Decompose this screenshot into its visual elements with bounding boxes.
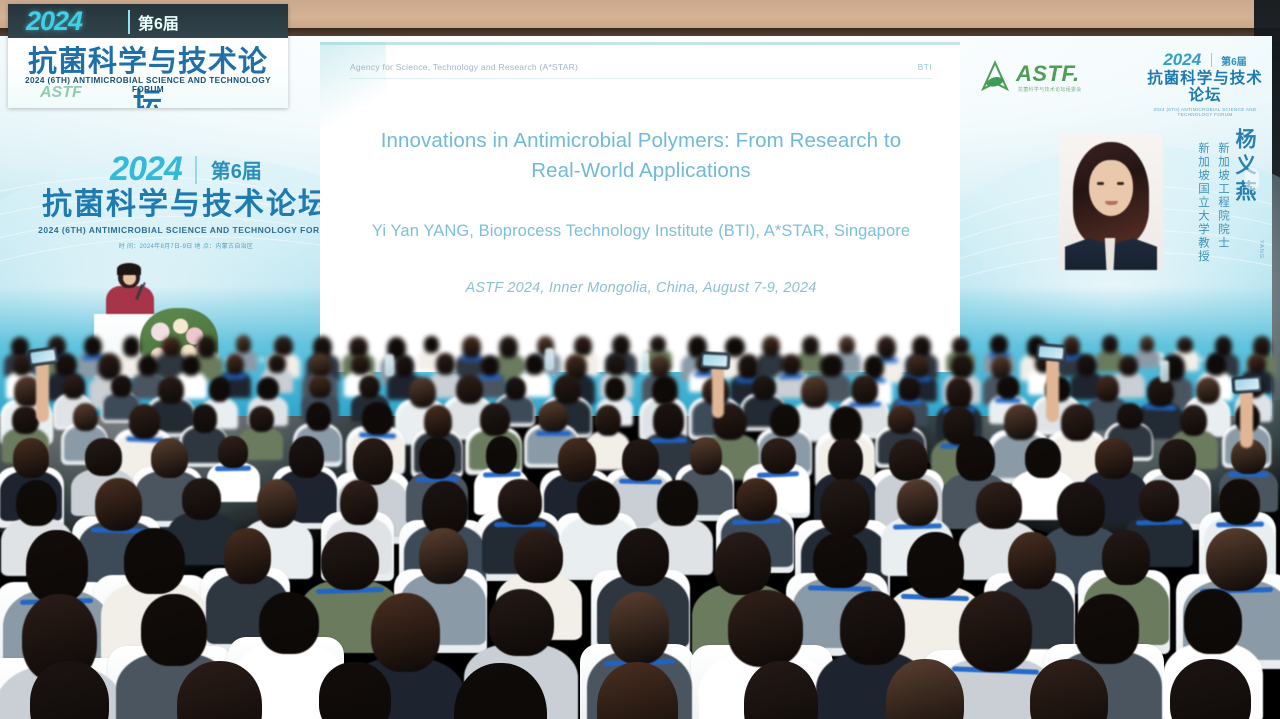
audience-head [306,402,331,431]
audience-head [371,593,441,672]
audience-head [1140,336,1155,352]
audience-head [744,661,819,719]
audience-head [505,377,526,399]
audience-head [595,405,621,436]
forum-signboard: 2024 第6届 抗菌科学与技术论坛 2024 (6TH) ANTIMICROB… [8,4,288,108]
audience-head [558,438,595,482]
audience-head [85,438,122,476]
audience-head [1025,438,1061,478]
audience-head [1102,335,1118,353]
audience-head [1184,589,1242,654]
audience-head [752,375,776,400]
audience-head [268,354,286,373]
audience-head [422,481,469,535]
audience-head [424,336,439,352]
audience-head [209,377,230,402]
audience-head [257,377,279,401]
slide-top-rule [320,42,960,45]
slide-header: Agency for Science, Technology and Resea… [350,60,932,74]
audience-head [486,436,518,474]
audience-head [1180,405,1207,436]
audience-head [1219,479,1259,525]
speaker-name-block: 杨义燕 YANG 新加坡工程院院士 新加坡国立大学教授 [1182,128,1268,278]
audience-member [162,337,181,378]
audience-member [577,480,620,574]
audience-member [597,662,679,719]
signboard-astf-logo: ASTF [40,84,82,102]
audience-member [525,354,544,398]
smartphone-camera [700,351,731,370]
audience-head [952,337,968,354]
audience-head [26,530,87,603]
audience-member [218,436,248,502]
audience-head [959,591,1032,672]
audience-member [959,591,1032,719]
backdrop-forum-banner: 2024 第6届 抗菌科学与技术论坛 2024 (6TH) ANTIMICROB… [36,150,336,266]
audience-head [359,375,380,398]
audience-head [714,532,772,595]
audience-head [889,439,928,481]
audience-member [1102,335,1118,372]
audience-head [1102,530,1151,586]
slide-header-organisation: Agency for Science, Technology and Resea… [350,62,578,72]
audience-head [997,376,1019,399]
audience-head [888,406,915,434]
audience-head [828,438,864,481]
right-logo-year: 2024 [1163,50,1201,70]
right-logo-title-cn: 抗菌科学与技术论坛 [1140,70,1270,104]
water-bottle [385,354,394,376]
audience-member [802,336,819,375]
audience-head [839,336,855,354]
audience-head [728,590,803,667]
audience-head [340,480,378,526]
portrait-eye-left [1097,182,1104,185]
raised-arm [1240,388,1253,448]
banner-session: 第6届 [211,155,262,184]
astf-wordmark: ASTF. [1016,61,1080,87]
audience-member [454,663,547,719]
audience-head [95,478,142,531]
raised-arm [36,360,49,422]
speaker-name-cn: 杨义燕 [1230,128,1260,206]
audience-head [1159,439,1196,480]
audience-head [158,376,184,404]
audience-head [622,439,658,482]
audience-head [886,659,964,719]
audience-head [73,403,98,431]
audience-head [309,376,330,398]
banner-title-en: 2024 (6TH) ANTIMICROBIAL SCIENCE AND TEC… [36,225,336,235]
audience-member [1119,355,1138,399]
audience-head [395,355,414,376]
astf-logo: ASTF. 抗菌科学与技术论坛组委会 [978,56,1088,102]
audience-member [259,592,320,719]
audience-head [1206,528,1267,592]
slide-event-line: ASTF 2024, Inner Mongolia, China, August… [360,280,922,296]
audience-head [182,355,200,376]
audience-head [141,594,207,666]
audience-member [436,353,454,398]
audience-member [1025,438,1061,521]
audience-head [609,592,669,663]
right-logo-session: 第6届 [1221,53,1247,68]
signboard-year: 2024 [26,6,82,37]
audience-head [123,336,141,356]
audience-head [1147,377,1174,407]
audience-head [951,354,973,378]
smartphone-camera [1231,375,1262,394]
audience-head [650,336,666,352]
audience-crowd [0,330,1280,719]
audience-member [192,404,218,464]
audience-head [1077,354,1096,376]
right-forum-logo: 2024 第6届 抗菌科学与技术论坛 2024 (6TH) ANTIMICROB… [1140,50,1270,117]
audience-head [436,353,454,375]
audience-head [577,480,620,525]
audience-head [1004,404,1037,440]
audience-head [259,592,320,655]
audience-head [13,438,49,479]
audience-head [761,438,796,474]
leaf-icon [978,60,1012,94]
audience-member [158,376,184,434]
audience-head [840,591,905,665]
audience-head [802,336,819,354]
audience-head [1170,659,1251,719]
audience-head [907,532,964,598]
audience-head [257,479,298,527]
audience-head [310,353,331,377]
audience-member [177,661,263,719]
speaker-hair [117,263,141,275]
audience-member [1030,659,1108,719]
audience-member [1061,404,1094,481]
audience-head [514,530,563,583]
speaker-title-secondary: 新加坡国立大学教授 [1196,142,1212,264]
slide-header-rule [350,78,932,79]
audience-head [1075,594,1138,664]
audience-head [781,354,801,375]
audience-head [224,528,271,584]
audience-head [820,479,870,536]
smartphone-camera [1035,343,1066,363]
audience-head [218,436,248,467]
audience-head [289,436,324,478]
audience-member [595,405,621,471]
audience-head [597,662,679,719]
audience-head [1030,659,1108,719]
signboard-divider [128,10,130,34]
presentation-slide: Agency for Science, Technology and Resea… [320,42,960,372]
right-logo-title-en: 2024 (6TH) ANTIMICROBIAL SCIENCE AND TEC… [1140,107,1270,117]
banner-title-cn: 抗菌科学与技术论坛 [36,190,336,220]
audience-head [409,377,436,408]
audience-head [946,377,973,409]
portrait-eye-right [1117,182,1124,185]
audience-head [192,404,218,432]
audience-head [1177,337,1193,353]
audience-head [554,375,581,403]
audience-head [956,436,995,481]
audience-head [525,354,544,375]
audience-head [111,375,132,397]
audience-head [480,403,510,435]
audience-member [182,355,200,400]
slide-title: Innovations in Antimicrobial Polymers: F… [366,126,916,186]
audience-head [1139,480,1178,522]
audience-head [574,336,592,355]
audience-member [319,662,390,719]
raised-arm [712,364,724,418]
signboard-session: 第6届 [138,10,179,34]
audience-head [650,355,670,378]
audience-head [657,480,697,526]
audience-head [990,335,1007,354]
audience-head [820,354,843,377]
audience-head [419,528,468,584]
banner-meta: 时 间：2024年8月7日-9日 地 点：内蒙古自治区 [36,241,336,250]
audience-member [762,336,779,378]
audience-head [129,404,161,439]
audience-member [744,661,819,719]
audience-member [182,478,221,566]
slide-corner-accent [320,42,386,132]
audience-head [538,402,567,432]
audience-head [1206,353,1226,376]
speaker-name-pinyin: YANG [1258,240,1264,259]
audience-head [226,354,244,376]
audience-head [813,533,867,589]
audience-member [1140,336,1155,369]
audience-head [249,406,274,432]
audience-head [151,438,189,478]
audience-head [770,404,800,437]
audience-head [1096,375,1119,402]
audience-head [1196,377,1220,404]
audience-head [30,661,109,719]
audience-head [162,337,181,357]
audience-head [12,406,39,434]
audience-head [1117,403,1143,429]
audience-head [321,532,378,591]
audience-member [249,406,274,461]
audience-head [690,437,721,475]
water-bottle [1160,360,1169,382]
audience-head [908,355,929,378]
audience-head [138,355,157,376]
audience-head [349,337,368,357]
audience-head [351,355,369,376]
audience-head [462,336,480,357]
audience-head [182,478,221,520]
audience-member [30,661,109,719]
water-bottle [640,352,649,374]
audience-head [489,589,554,656]
audience-head [736,478,777,521]
audience-head [801,376,828,408]
audience-head [481,355,499,376]
audience-member [1170,659,1251,719]
speaker-title-primary: 新加坡工程院院士 [1216,142,1232,250]
audience-head [63,375,84,400]
audience-head [851,375,878,404]
audience-head [1061,404,1094,441]
portrait-face [1089,160,1133,216]
audience-head [612,335,630,355]
portrait-mouth [1105,201,1118,205]
astf-sub-label: 抗菌科学与技术论坛组委会 [1018,86,1082,93]
audience-head [124,528,185,594]
raised-arm [1046,356,1059,422]
audience-head [197,336,216,358]
audience-head [236,335,251,352]
audience-head [1095,438,1132,479]
audience-head [762,336,779,356]
speaker-portrait [1059,134,1163,270]
audience-head [652,376,677,405]
audience-member [481,355,499,399]
audience-head [605,377,626,400]
audience-head [976,482,1022,529]
audience-head [319,662,390,719]
audience-head [499,336,518,358]
audience-head [353,438,394,486]
audience-member [781,354,801,399]
water-bottle [545,348,554,370]
audience-head [419,437,455,480]
audience-head [177,661,263,719]
audience-head [424,405,451,438]
audience-head [607,354,626,375]
audience-head [899,377,920,401]
conference-photo: 2024 第6届 抗菌科学与技术论坛 2024 (6TH) ANTIMICROB… [0,0,1280,719]
audience-head [16,480,57,527]
audience-head [1248,354,1266,373]
audience-head [1008,532,1056,589]
audience-member [138,355,157,400]
banner-divider [195,156,197,184]
audience-head [498,479,542,525]
audience-head [1119,355,1138,376]
slide-header-institute: BTI [918,62,932,72]
audience-head [362,402,393,435]
backdrop-pill-accent [1245,168,1259,190]
banner-year: 2024 [110,150,182,189]
audience-member [886,659,964,719]
audience-head [454,663,547,719]
audience-head [1057,482,1105,536]
audience-head [897,479,938,526]
audience-head [456,375,483,404]
audience-member [1077,354,1096,400]
audience-head [617,528,669,586]
audience-head [653,402,684,439]
slide-author: Yi Yan YANG, Bioprocess Technology Insti… [360,222,922,241]
right-logo-divider [1211,53,1212,67]
